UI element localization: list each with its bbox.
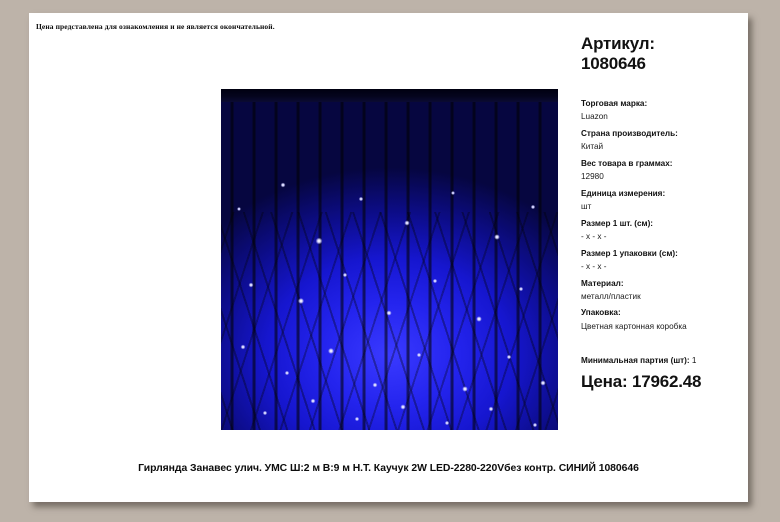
spec-key-brand: Торговая марка: [581, 100, 741, 108]
sku-label: Артикул: [581, 34, 741, 54]
sku-value: 1080646 [581, 54, 741, 74]
photo-top-rail [221, 89, 558, 102]
product-caption: Гирлянда Занавес улич. УМС Ш:2 м В:9 м Н… [29, 463, 748, 474]
sku-block: Артикул: 1080646 [581, 34, 741, 74]
price-line: Цена: 17962.48 [581, 372, 741, 392]
spec-value-packaging: Цветная картонная коробка [581, 323, 741, 331]
product-page-sheet: Цена представлена для ознакомления и не … [29, 13, 748, 502]
product-photo-image [221, 89, 558, 430]
minimum-batch-value: 1 [690, 356, 697, 365]
spec-value-package-size: - х - х - [581, 263, 741, 271]
spec-value-material: металл/пластик [581, 293, 741, 301]
minimum-batch-label: Минимальная партия (шт): [581, 356, 690, 365]
spec-value-country: Китай [581, 143, 741, 151]
spec-key-packaging: Упаковка: [581, 309, 741, 317]
spec-key-material: Материал: [581, 280, 741, 288]
spec-key-weight: Вес товара в граммах: [581, 160, 741, 168]
product-photo-frame [221, 89, 558, 430]
spec-value-item-size: - х - х - [581, 233, 741, 241]
spec-list: Торговая марка: Luazon Страна производит… [581, 100, 741, 331]
screenshot-viewport: Цена представлена для ознакомления и не … [0, 0, 780, 522]
specification-column: Артикул: 1080646 Торговая марка: Luazon … [581, 34, 741, 392]
spec-key-item-size: Размер 1 шт. (см): [581, 220, 741, 228]
price-disclaimer-text: Цена представлена для ознакомления и не … [36, 22, 275, 31]
spec-value-weight: 12980 [581, 173, 741, 181]
spec-key-unit: Единица измерения: [581, 190, 741, 198]
photo-led-layer [221, 89, 558, 430]
spec-value-brand: Luazon [581, 113, 741, 121]
minimum-batch-line: Минимальная партия (шт): 1 [581, 356, 741, 365]
spec-key-package-size: Размер 1 упаковки (см): [581, 250, 741, 258]
spec-value-unit: шт [581, 203, 741, 211]
spec-key-country: Страна производитель: [581, 130, 741, 138]
